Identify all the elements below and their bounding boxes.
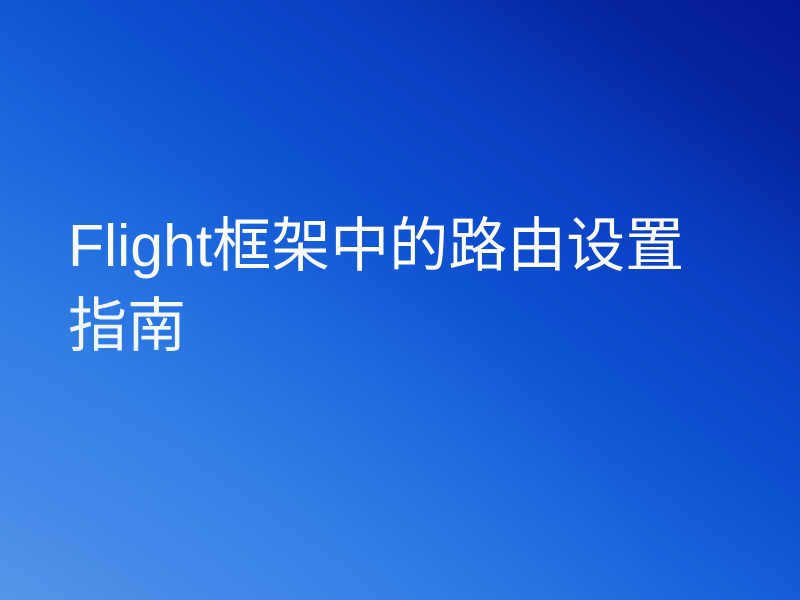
- slide-canvas: Flight框架中的路由设置指南: [0, 0, 800, 600]
- title-block: Flight框架中的路由设置指南: [68, 206, 718, 366]
- page-title: Flight框架中的路由设置指南: [68, 206, 718, 366]
